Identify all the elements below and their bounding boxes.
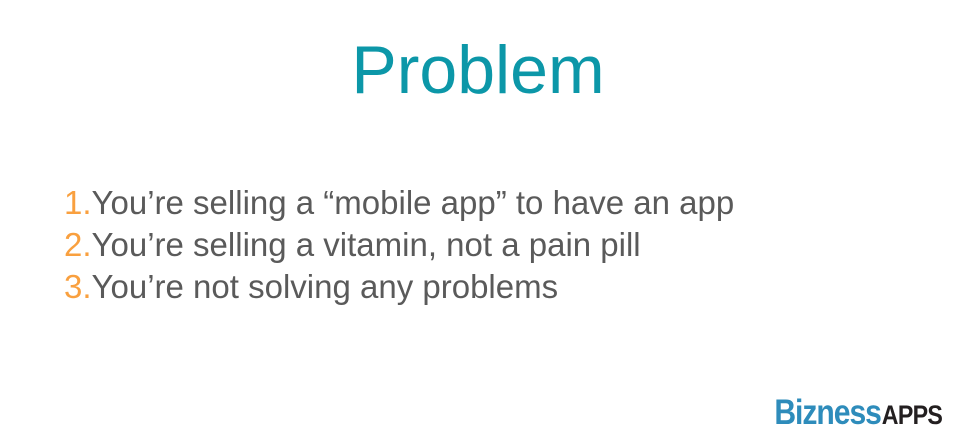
list-item: 1. You’re selling a “mobile app” to have…	[64, 182, 734, 224]
list-item-number: 3.	[64, 266, 92, 308]
list-item-number: 2.	[64, 224, 92, 266]
list-item-number: 1.	[64, 182, 92, 224]
logo-wordmark-secondary: APPS	[882, 402, 942, 429]
list-item-label: You’re selling a “mobile app” to have an…	[92, 182, 735, 224]
bizness-apps-logo: Bizness APPS	[774, 395, 942, 430]
problem-bullet-list: 1. You’re selling a “mobile app” to have…	[64, 182, 734, 308]
list-item: 2. You’re selling a vitamin, not a pain …	[64, 224, 734, 266]
list-item-label: You’re selling a vitamin, not a pain pil…	[92, 224, 641, 266]
list-item: 3. You’re not solving any problems	[64, 266, 734, 308]
presentation-slide: Problem 1. You’re selling a “mobile app”…	[0, 0, 956, 446]
page-title: Problem	[0, 29, 956, 111]
list-item-label: You’re not solving any problems	[92, 266, 559, 308]
logo-wordmark-primary: Bizness	[774, 395, 881, 430]
